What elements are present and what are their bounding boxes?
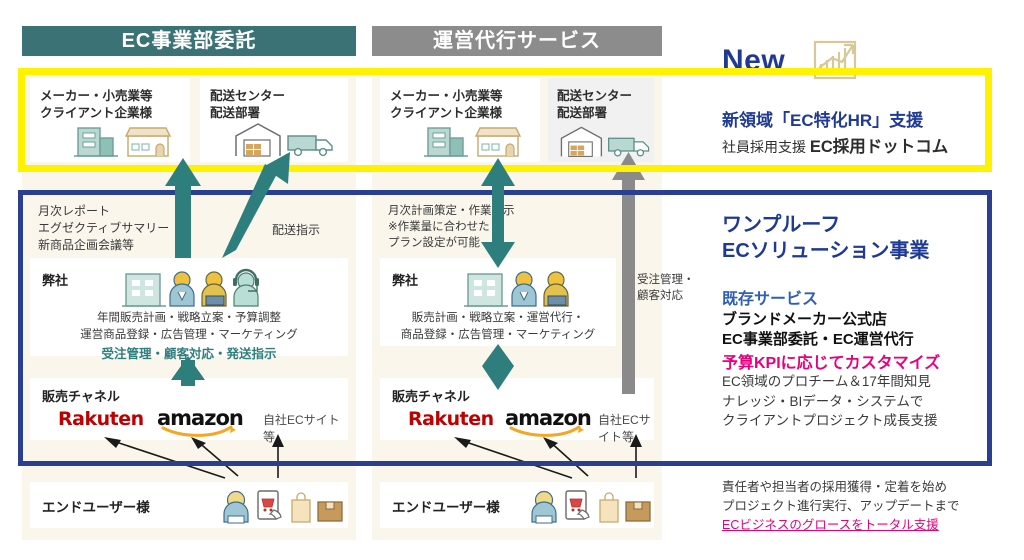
footer-line-2: プロジェクト進行実行、アップデートまで xyxy=(722,497,960,516)
header-bar-ec-division: EC事業部委託 xyxy=(22,26,356,56)
footer-line-3: ECビジネスのグロースをトータル支援 xyxy=(722,516,960,535)
footer-line-1: 責任者や担当者の採用獲得・定着を始め xyxy=(722,478,960,497)
yellow-client-frame xyxy=(18,68,992,172)
right-end-user-label: エンドユーザー様 xyxy=(392,496,500,516)
footer-note: 責任者や担当者の採用獲得・定着を始め プロジェクト進行実行、アップデートまで E… xyxy=(722,478,960,534)
shopper-icons xyxy=(220,488,345,524)
left-end-user-box: エンドユーザー様 xyxy=(30,482,348,528)
shopper-icons xyxy=(528,488,653,524)
left-end-user-label: エンドユーザー様 xyxy=(42,496,150,516)
header-bar-operation-agency: 運営代行サービス xyxy=(372,26,662,56)
blue-solution-frame xyxy=(18,190,992,466)
right-end-user-box: エンドユーザー様 xyxy=(380,482,654,528)
